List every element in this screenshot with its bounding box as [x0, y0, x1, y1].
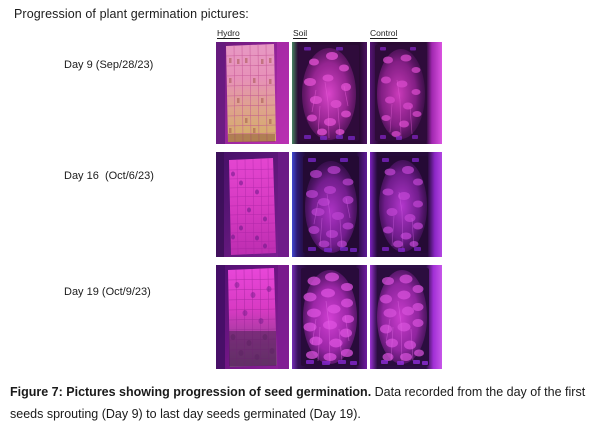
- photo-soil-day-19: [292, 265, 367, 369]
- photo-hydro-day-9: [216, 42, 289, 144]
- caption-bold: Figure 7: Pictures showing progression o…: [10, 385, 371, 399]
- photo-control-day-19: [370, 265, 442, 369]
- photo-soil-day-16: [292, 152, 367, 257]
- row-label-day-9: Day 9 (Sep/28/23): [64, 58, 153, 72]
- photo-control-day-9: [370, 42, 442, 144]
- intro-text: Progression of plant germination picture…: [14, 6, 249, 22]
- row-label-day-16: Day 16 (Oct/6/23): [64, 169, 154, 183]
- germination-image-grid: Hydro Soil Control: [216, 28, 442, 369]
- photo-control-day-16: [370, 152, 442, 257]
- figure-caption: Figure 7: Pictures showing progression o…: [10, 381, 588, 425]
- column-header-soil: Soil: [293, 28, 307, 38]
- row-label-day-19: Day 19 (Oct/9/23): [64, 285, 151, 299]
- column-header-control: Control: [370, 28, 397, 38]
- figure-page: Progression of plant germination picture…: [0, 0, 600, 431]
- photo-soil-day-9: [292, 42, 367, 144]
- photo-hydro-day-19: [216, 265, 289, 369]
- column-header-hydro: Hydro: [217, 28, 240, 38]
- photo-hydro-day-16: [216, 152, 289, 257]
